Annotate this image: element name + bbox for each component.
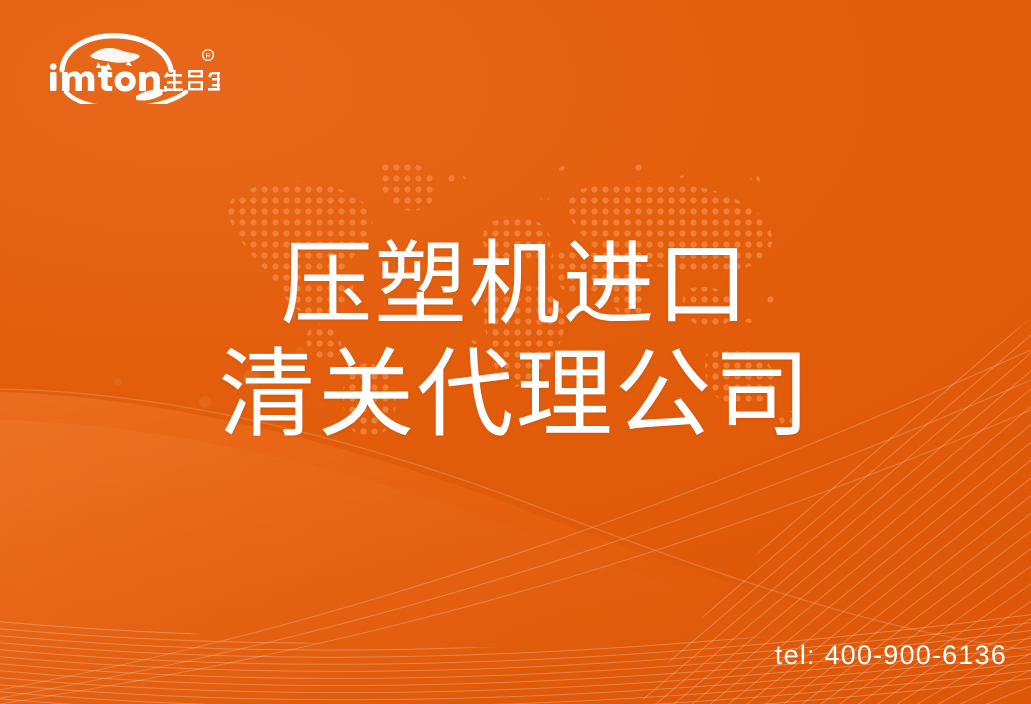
landmass-shape (90, 48, 140, 63)
promo-poster: R 压塑机进口 清关代理公司 tel: 400-900-6136 (0, 0, 1031, 704)
dotted-world-map (215, 140, 815, 440)
trademark-icon: R (203, 50, 214, 61)
brand-logo[interactable]: R (40, 30, 220, 104)
wordmark-latin (50, 63, 160, 91)
swoosh-eye-icon (162, 91, 165, 94)
wordmark-chinese (164, 70, 220, 91)
bokeh-dot (199, 396, 211, 408)
swoosh-icon (66, 92, 186, 104)
telephone-text: tel: 400-900-6136 (775, 640, 1007, 671)
bokeh-dot (114, 378, 122, 386)
dotted-world-map-svg (215, 140, 815, 440)
brand-logo-svg: R (40, 30, 220, 104)
svg-text:R: R (205, 53, 210, 60)
